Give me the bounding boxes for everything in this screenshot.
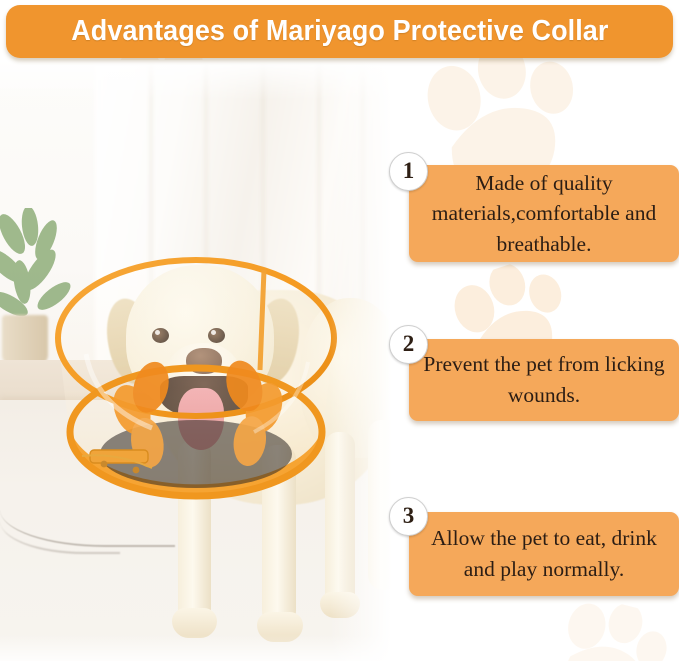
feature-callout-2: Prevent the pet from licking wounds. — [409, 339, 679, 421]
feature-callout-3: Allow the pet to eat, drink and play nor… — [409, 512, 679, 596]
protective-collar — [46, 242, 346, 504]
paw-print-icon — [532, 589, 679, 661]
page-title: Advantages of Mariyago Protective Collar — [71, 15, 608, 48]
photo-fade-right — [330, 60, 400, 661]
feature-number-1: 1 — [403, 159, 415, 182]
header-banner: Advantages of Mariyago Protective Collar — [6, 5, 673, 58]
product-photo — [0, 60, 400, 661]
feature-badge-2: 2 — [389, 325, 428, 364]
dog-paw — [172, 608, 217, 638]
product-advantages-infographic: Advantages of Mariyago Protective Collar… — [0, 0, 679, 661]
photo-scene — [0, 60, 400, 661]
feature-number-3: 3 — [403, 504, 415, 527]
plant-pot — [2, 315, 48, 365]
feature-number-2: 2 — [403, 332, 415, 355]
feature-badge-3: 3 — [389, 497, 428, 536]
feature-text-3: Allow the pet to eat, drink and play nor… — [409, 523, 679, 584]
feature-badge-1: 1 — [389, 152, 428, 191]
feature-text-2: Prevent the pet from licking wounds. — [409, 349, 679, 410]
feature-callout-1: Made of quality materials,comfortable an… — [409, 165, 679, 262]
feature-text-1: Made of quality materials,comfortable an… — [409, 168, 679, 260]
